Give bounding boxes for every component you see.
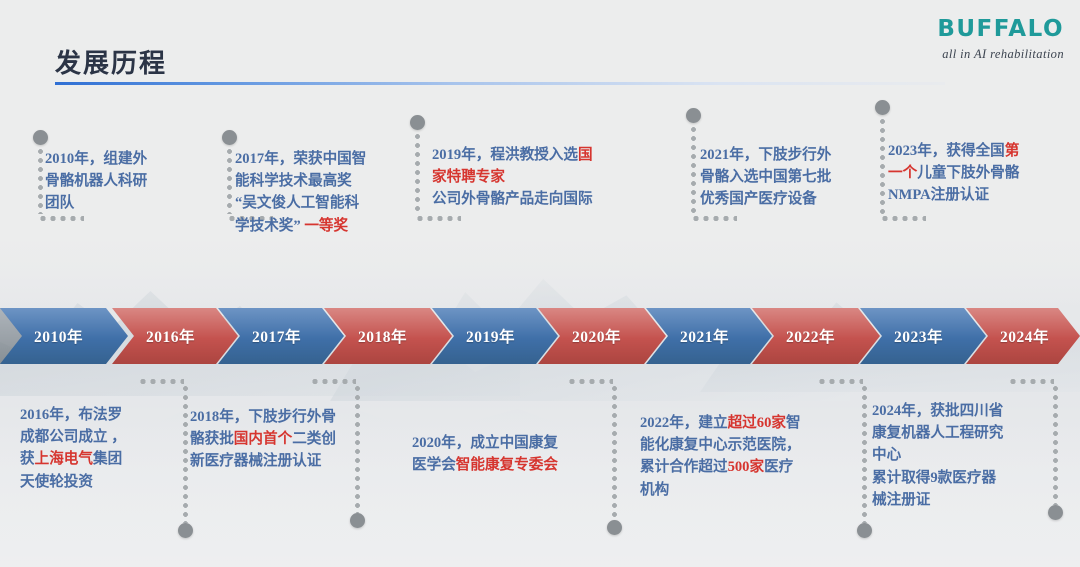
event-text-line: 优秀国产医疗设备 xyxy=(700,188,831,210)
event-text-line: 2020年，成立中国康复 xyxy=(412,432,558,454)
event-text-line: 2023年，获得全国第 xyxy=(888,140,1019,162)
event-text-line: 2022年，建立超过60家智 xyxy=(640,412,801,434)
connector-line-bottom-2018 xyxy=(355,384,360,513)
event-bottom-2022: 2022年，建立超过60家智能化康复中心示范医院，累计合作超过500家医疗机构 xyxy=(640,412,801,501)
connector-pin-top-2017 xyxy=(222,130,237,145)
event-text-line: 机构 xyxy=(640,479,801,501)
event-text: 累计取得9款医疗器 xyxy=(872,470,996,486)
timeline-year-label: 2022年 xyxy=(786,325,835,347)
connector-head-bottom-2016 xyxy=(138,379,184,384)
connector-pin-bottom-2020 xyxy=(607,520,622,535)
timeline-year-2016[interactable]: 2016年 xyxy=(112,308,238,364)
brand-logo: BUFFALO all in AI rehabilitation xyxy=(937,18,1064,62)
connector-line-top-2010 xyxy=(38,147,43,214)
event-text: NMPA注册认证 xyxy=(888,187,989,203)
event-text-line: 2016年，布法罗 xyxy=(20,404,126,426)
connector-pin-bottom-2024 xyxy=(1048,505,1063,520)
event-top-2019: 2019年，程洪教授入选国家特聘专家公司外骨骼产品走向国际 xyxy=(432,144,593,211)
event-text: 能化康复中心示范医院， xyxy=(640,437,801,453)
event-text-line: 骨骼入选中国第七批 xyxy=(700,166,831,188)
event-text: 骨骼入选中国第七批 xyxy=(700,169,831,185)
connector-pin-bottom-2016 xyxy=(178,523,193,538)
event-text-line: 累计合作超过500家医疗 xyxy=(640,456,801,478)
event-text: 优秀国产医疗设备 xyxy=(700,191,817,207)
timeline-year-label: 2016年 xyxy=(146,325,195,347)
event-text: “吴文俊人工智能科 xyxy=(235,195,359,211)
connector-line-top-2023 xyxy=(880,117,885,214)
event-text-line: 医学会智能康复专委会 xyxy=(412,454,558,476)
connector-line-top-2017 xyxy=(227,147,232,214)
connector-line-bottom-2024 xyxy=(1053,384,1058,505)
connector-foot-top-2019 xyxy=(415,216,461,221)
timeline-year-label: 2024年 xyxy=(1000,325,1049,347)
timeline-year-label: 2023年 xyxy=(894,325,943,347)
event-text-line: 中心 xyxy=(872,444,1003,466)
event-text: 医疗 xyxy=(764,459,793,475)
event-text: 2020年，成立中国康复 xyxy=(412,435,558,451)
timeline-year-label: 2017年 xyxy=(252,325,301,347)
connector-line-top-2019 xyxy=(415,132,420,214)
event-bottom-2016: 2016年，布法罗成都公司成立 ，获上海电气集团天使轮投资 xyxy=(20,404,126,493)
connector-pin-bottom-2022 xyxy=(857,523,872,538)
event-text-line: 康复机器人工程研究 xyxy=(872,422,1003,444)
event-text: 获 xyxy=(20,451,35,467)
highlight-text: 第 xyxy=(1005,143,1020,159)
connector-line-bottom-2022 xyxy=(862,384,867,523)
event-text-line: 2010年，组建外 xyxy=(45,148,147,170)
event-text: 成都公司成立 ， xyxy=(20,429,126,445)
event-text: 2018年，下肢步行外骨 xyxy=(190,409,336,425)
event-text-line: 械注册证 xyxy=(872,489,1003,511)
event-text-line: 2021年，下肢步行外 xyxy=(700,144,831,166)
event-text: 康复机器人工程研究 xyxy=(872,425,1003,441)
event-text: 团队 xyxy=(45,195,74,211)
event-text-line: 一个儿童下肢外骨骼 xyxy=(888,162,1019,184)
page-title: 发展历程 xyxy=(55,43,167,80)
event-text: 二类创 xyxy=(292,431,336,447)
event-text: 2022年，建立 xyxy=(640,415,728,431)
event-bottom-2018: 2018年，下肢步行外骨骼获批国内首个二类创新医疗器械注册认证 xyxy=(190,406,336,473)
event-top-2023: 2023年，获得全国第一个儿童下肢外骨骼NMPA注册认证 xyxy=(888,140,1019,207)
highlight-text: 国 xyxy=(578,147,593,163)
event-text-line: 骼获批国内首个二类创 xyxy=(190,428,336,450)
connector-foot-top-2010 xyxy=(38,216,84,221)
event-top-2017: 2017年，荣获中国智能科学技术最高奖“吴文俊人工智能科学技术奖” 一等奖 xyxy=(235,148,366,237)
event-text-line: 学技术奖” 一等奖 xyxy=(235,215,366,237)
event-text: 学技术奖” xyxy=(235,218,304,234)
event-text-line: 成都公司成立 ， xyxy=(20,426,126,448)
event-text: 智 xyxy=(786,415,801,431)
event-text-line: 累计取得9款医疗器 xyxy=(872,467,1003,489)
connector-pin-top-2019 xyxy=(410,115,425,130)
event-bottom-2020: 2020年，成立中国康复医学会智能康复专委会 xyxy=(412,432,558,476)
highlight-text: 一个 xyxy=(888,165,917,181)
event-text-line: 2019年，程洪教授入选国 xyxy=(432,144,593,166)
event-text-line: 获上海电气集团 xyxy=(20,448,126,470)
highlight-text: 智能康复专委会 xyxy=(456,457,558,473)
event-text-line: 新医疗器械注册认证 xyxy=(190,450,336,472)
connector-pin-top-2010 xyxy=(33,130,48,145)
highlight-text: 500家 xyxy=(728,459,765,475)
event-text: 新医疗器械注册认证 xyxy=(190,453,321,469)
connector-line-top-2021 xyxy=(691,125,696,214)
event-text: 能科学技术最高奖 xyxy=(235,173,352,189)
connector-pin-top-2023 xyxy=(875,100,890,115)
event-text: 2010年，组建外 xyxy=(45,151,147,167)
event-text: 骨骼机器人科研 xyxy=(45,173,147,189)
event-text: 儿童下肢外骨骼 xyxy=(917,165,1019,181)
connector-pin-top-2021 xyxy=(686,108,701,123)
event-text: 2024年，获批四川省 xyxy=(872,403,1003,419)
event-top-2010: 2010年，组建外骨骼机器人科研团队 xyxy=(45,148,147,215)
event-text-line: NMPA注册认证 xyxy=(888,184,1019,206)
timeline-bar: 2010年2016年2017年2018年2019年2020年2021年2022年… xyxy=(0,308,1080,364)
highlight-text: 国内首个 xyxy=(234,431,292,447)
event-text-line: “吴文俊人工智能科 xyxy=(235,192,366,214)
connector-head-bottom-2024 xyxy=(1008,379,1054,384)
event-text: 2021年，下肢步行外 xyxy=(700,147,831,163)
event-text-line: 骨骼机器人科研 xyxy=(45,170,147,192)
event-text-line: 2017年，荣获中国智 xyxy=(235,148,366,170)
highlight-text: 家特聘专家 xyxy=(432,169,505,185)
highlight-text: 超过60家 xyxy=(728,415,786,431)
event-text: 2016年，布法罗 xyxy=(20,407,122,423)
event-text-line: 能科学技术最高奖 xyxy=(235,170,366,192)
connector-pin-bottom-2018 xyxy=(350,513,365,528)
event-text: 械注册证 xyxy=(872,492,930,508)
event-text: 2017年，荣获中国智 xyxy=(235,151,366,167)
event-text: 公司外骨骼产品走向国际 xyxy=(432,191,593,207)
event-text: 中心 xyxy=(872,447,901,463)
highlight-text: 上海电气 xyxy=(35,451,93,467)
event-text-line: 能化康复中心示范医院， xyxy=(640,434,801,456)
connector-line-bottom-2020 xyxy=(612,384,617,520)
event-text: 医学会 xyxy=(412,457,456,473)
event-text: 集团 xyxy=(93,451,122,467)
logo-tagline: all in AI rehabilitation xyxy=(937,47,1064,62)
timeline-year-label: 2010年 xyxy=(34,325,83,347)
event-text-line: 2018年，下肢步行外骨 xyxy=(190,406,336,428)
connector-foot-top-2023 xyxy=(880,216,926,221)
timeline-year-label: 2018年 xyxy=(358,325,407,347)
event-bottom-2024: 2024年，获批四川省康复机器人工程研究中心累计取得9款医疗器械注册证 xyxy=(872,400,1003,511)
logo-wordmark: BUFFALO xyxy=(937,18,1064,41)
event-text-line: 家特聘专家 xyxy=(432,166,593,188)
connector-head-bottom-2022 xyxy=(817,379,863,384)
event-text-line: 公司外骨骼产品走向国际 xyxy=(432,188,593,210)
connector-line-bottom-2016 xyxy=(183,384,188,523)
event-text: 累计合作超过 xyxy=(640,459,728,475)
title-underline xyxy=(55,82,945,85)
event-text-line: 2024年，获批四川省 xyxy=(872,400,1003,422)
event-text: 机构 xyxy=(640,482,669,498)
event-text: 天使轮投资 xyxy=(20,474,93,490)
event-text-line: 团队 xyxy=(45,192,147,214)
timeline-year-label: 2020年 xyxy=(572,325,621,347)
event-text: 2023年，获得全国 xyxy=(888,143,1005,159)
timeline-year-label: 2019年 xyxy=(466,325,515,347)
connector-foot-top-2021 xyxy=(691,216,737,221)
event-text: 骼获批 xyxy=(190,431,234,447)
highlight-text: 一等奖 xyxy=(304,218,348,234)
event-text: 2019年，程洪教授入选 xyxy=(432,147,578,163)
timeline-year-label: 2021年 xyxy=(680,325,729,347)
event-text-line: 天使轮投资 xyxy=(20,471,126,493)
slide-canvas: 发展历程 BUFFALO all in AI rehabilitation 20… xyxy=(0,0,1080,567)
connector-head-bottom-2020 xyxy=(567,379,613,384)
event-top-2021: 2021年，下肢步行外骨骼入选中国第七批优秀国产医疗设备 xyxy=(700,144,831,211)
connector-head-bottom-2018 xyxy=(310,379,356,384)
